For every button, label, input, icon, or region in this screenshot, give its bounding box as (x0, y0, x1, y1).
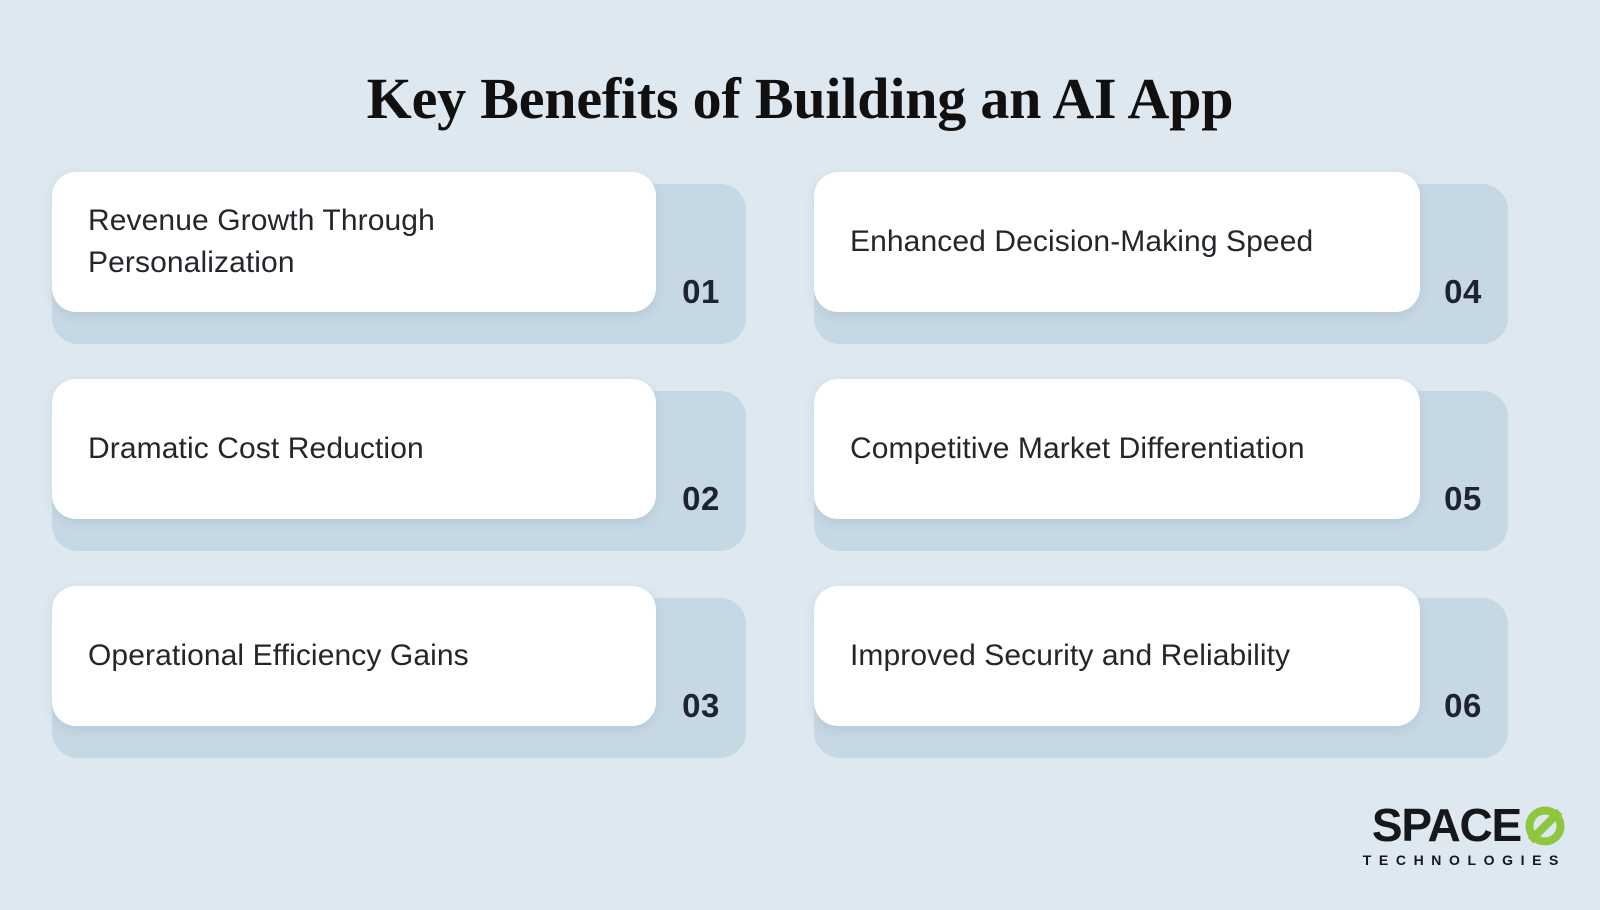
benefit-label: Operational Efficiency Gains (88, 635, 469, 677)
logo-text: SPACE (1372, 802, 1521, 848)
benefit-item-06[interactable]: 06 Improved Security and Reliability (814, 586, 1508, 758)
benefit-number: 02 (656, 391, 746, 551)
benefit-card[interactable]: Competitive Market Differentiation (814, 379, 1420, 519)
benefit-number: 04 (1418, 184, 1508, 344)
benefit-card[interactable]: Dramatic Cost Reduction (52, 379, 656, 519)
brand-logo: SPACE TECHNOLOGIES (1355, 802, 1566, 868)
benefit-card[interactable]: Improved Security and Reliability (814, 586, 1420, 726)
benefit-number: 03 (656, 598, 746, 758)
benefit-label: Improved Security and Reliability (850, 635, 1290, 677)
slide-canvas: Key Benefits of Building an AI App 01 Re… (0, 0, 1600, 910)
benefit-item-02[interactable]: 02 Dramatic Cost Reduction (52, 379, 746, 551)
benefit-label: Dramatic Cost Reduction (88, 428, 424, 470)
benefit-item-03[interactable]: 03 Operational Efficiency Gains (52, 586, 746, 758)
benefit-item-05[interactable]: 05 Competitive Market Differentiation (814, 379, 1508, 551)
benefit-number: 06 (1418, 598, 1508, 758)
logo-tagline: TECHNOLOGIES (1355, 852, 1566, 868)
benefit-item-04[interactable]: 04 Enhanced Decision-Making Speed (814, 172, 1508, 344)
benefit-item-01[interactable]: 01 Revenue Growth Through Personalizatio… (52, 172, 746, 344)
benefit-label: Revenue Growth Through Personalization (88, 200, 622, 284)
benefit-number: 01 (656, 184, 746, 344)
logo-wordmark: SPACE (1355, 802, 1566, 848)
benefit-label: Enhanced Decision-Making Speed (850, 221, 1313, 263)
benefit-number: 05 (1418, 391, 1508, 551)
slashed-o-icon (1524, 805, 1566, 847)
benefit-card[interactable]: Revenue Growth Through Personalization (52, 172, 656, 312)
benefit-label: Competitive Market Differentiation (850, 428, 1305, 470)
benefit-card[interactable]: Enhanced Decision-Making Speed (814, 172, 1420, 312)
benefits-grid: 01 Revenue Growth Through Personalizatio… (52, 172, 1552, 772)
page-title: Key Benefits of Building an AI App (0, 64, 1600, 134)
benefit-card[interactable]: Operational Efficiency Gains (52, 586, 656, 726)
